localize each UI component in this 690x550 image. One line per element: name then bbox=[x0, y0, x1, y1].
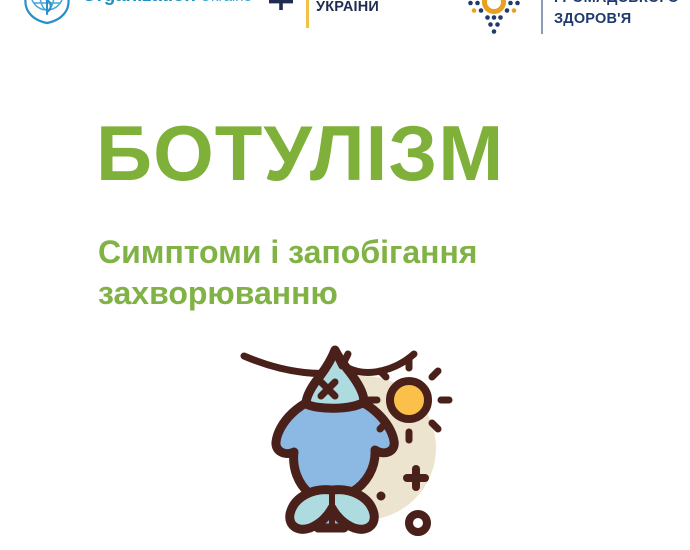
phc-line-2: ЗДОРОВ'Я bbox=[554, 9, 679, 30]
who-emblem-icon bbox=[16, 0, 78, 28]
hanging-dried-fish-illustration bbox=[236, 338, 461, 550]
small-dot bbox=[377, 492, 386, 501]
who-logo-text: Organization Ukraine bbox=[82, 0, 252, 6]
ministry-flag-divider bbox=[306, 0, 309, 28]
ministry-logo-text: ОХОРОНИ ЗДОРОВ'Я УКРАЇНИ bbox=[316, 0, 393, 18]
fish-eye-cross bbox=[321, 382, 335, 396]
poster-root: Organization Ukraine bbox=[0, 0, 690, 550]
public-health-center-logo: ГРОМАДСЬКОГО ЗДОРОВ'Я bbox=[455, 0, 679, 48]
sun-disc bbox=[390, 381, 428, 419]
public-health-center-divider bbox=[541, 0, 543, 34]
ministry-trident-icon bbox=[258, 0, 304, 16]
phc-line-1: ГРОМАДСЬКОГО bbox=[554, 0, 679, 9]
page-subtitle-line-1: Симптоми і запобігання bbox=[98, 232, 568, 273]
who-logo: Organization Ukraine bbox=[16, 0, 252, 28]
public-health-center-text: ГРОМАДСЬКОГО ЗДОРОВ'Я bbox=[554, 0, 679, 30]
public-health-center-dots-icon bbox=[455, 0, 533, 48]
logo-strip: Organization Ukraine bbox=[0, 0, 690, 56]
page-subtitle: Симптоми і запобігання захворюванню bbox=[98, 232, 568, 314]
ministry-of-health-logo: ОХОРОНИ ЗДОРОВ'Я УКРАЇНИ bbox=[258, 0, 393, 28]
ministry-line-3: УКРАЇНИ bbox=[316, 0, 393, 18]
who-organization-label: Organization bbox=[82, 0, 196, 6]
page-title: БОТУЛІЗМ bbox=[96, 116, 504, 190]
ring-mark bbox=[409, 514, 427, 532]
who-country-label: Ukraine bbox=[200, 0, 252, 5]
page-subtitle-line-2: захворюванню bbox=[98, 273, 568, 314]
